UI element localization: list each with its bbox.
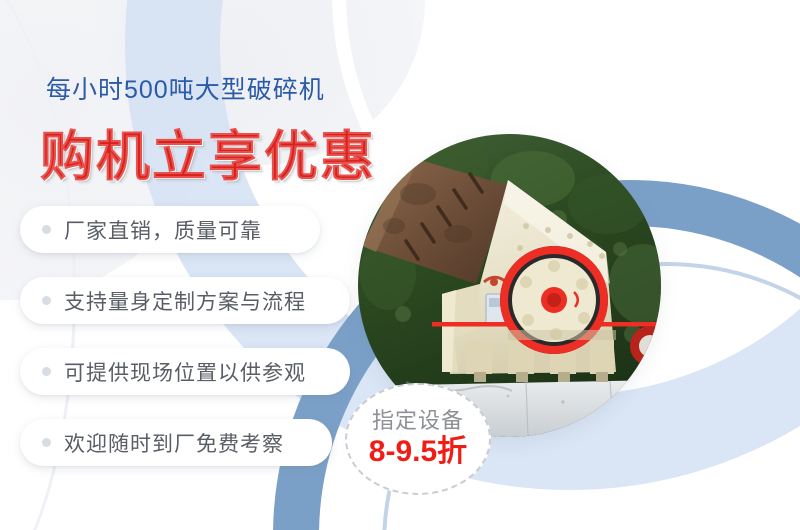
feature-pill: 厂家直销，质量可靠: [20, 206, 320, 253]
feature-pill: 支持量身定制方案与流程: [20, 277, 350, 324]
feature-label: 欢迎随时到厂免费考察: [64, 428, 284, 458]
feature-label: 可提供现场位置以供参观: [64, 357, 306, 387]
feature-pill: 欢迎随时到厂免费考察: [20, 419, 332, 466]
banner-subtitle: 每小时500吨大型破碎机: [46, 70, 325, 106]
bullet-dot-icon: [42, 438, 51, 447]
discount-badge: 指定设备 8-9.5折: [345, 383, 491, 495]
bullet-dot-icon: [42, 367, 51, 376]
promo-banner: 每小时500吨大型破碎机 购机立享优惠 厂家直销，质量可靠 支持量身定制方案与流…: [0, 0, 800, 530]
feature-label: 支持量身定制方案与流程: [64, 286, 306, 316]
badge-label: 指定设备: [372, 409, 464, 433]
bullet-dot-icon: [42, 296, 51, 305]
badge-discount-value: 8-9.5折: [369, 435, 467, 470]
feature-list: 厂家直销，质量可靠 支持量身定制方案与流程 可提供现场位置以供参观 欢迎随时到厂…: [0, 206, 350, 490]
banner-headline: 购机立享优惠: [40, 112, 376, 191]
feature-label: 厂家直销，质量可靠: [64, 215, 262, 245]
bullet-dot-icon: [42, 225, 51, 234]
feature-pill: 可提供现场位置以供参观: [20, 348, 350, 395]
